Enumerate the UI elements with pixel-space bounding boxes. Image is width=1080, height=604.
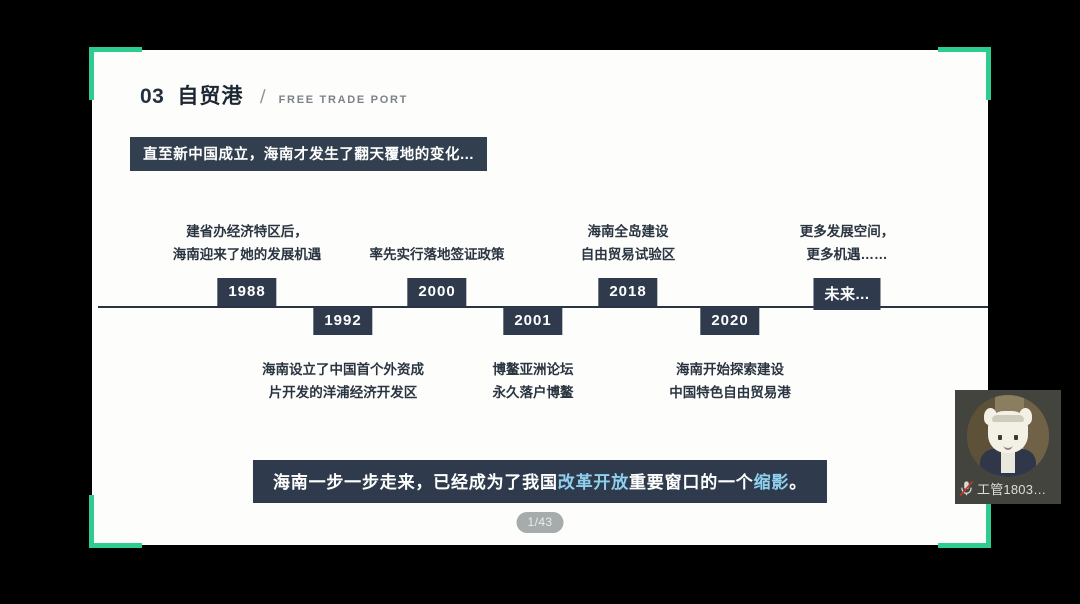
timeline-caption-line: 片开发的洋浦经济开发区 (262, 381, 424, 404)
timeline-year-chip: 未来... (813, 278, 880, 310)
timeline-caption-line: 海南全岛建设 (581, 220, 676, 243)
avatar-hair (992, 415, 1024, 422)
section-number: 03 (140, 85, 164, 109)
timeline-year-chip: 2018 (598, 278, 657, 306)
timeline-caption-line: 永久落户博鳌 (493, 381, 574, 404)
timeline-caption: 海南全岛建设自由贸易试验区 (581, 220, 676, 266)
timeline-year-chip: 1992 (313, 307, 372, 335)
slide-header: 03 自贸港 / FREE TRADE PORT (140, 80, 408, 110)
section-title-chinese: 自贸港 (177, 80, 243, 110)
timeline-caption: 博鳌亚洲论坛永久落户博鳌 (493, 358, 574, 404)
timeline-caption: 建省办经济特区后，海南迎来了她的发展机遇 (173, 220, 322, 266)
timeline-caption: 海南开始探索建设中国特色自由贸易港 (669, 358, 791, 404)
conclusion-highlight-1: 改革开放 (558, 473, 629, 492)
participant-name: 工管1803… (977, 479, 1046, 498)
mic-muted-icon[interactable] (959, 480, 974, 497)
timeline: 1988建省办经济特区后，海南迎来了她的发展机遇1992海南设立了中国首个外资成… (92, 200, 988, 490)
timeline-caption: 海南设立了中国首个外资成片开发的洋浦经济开发区 (262, 358, 424, 404)
avatar (967, 395, 1049, 477)
timeline-year-chip: 2000 (407, 278, 466, 306)
conclusion-part-3: 。 (789, 473, 807, 492)
timeline-caption-line: 自由贸易试验区 (581, 243, 676, 266)
timeline-caption-line: 博鳌亚洲论坛 (493, 358, 574, 381)
timeline-caption-line: 海南迎来了她的发展机遇 (173, 243, 322, 266)
corner-bracket-top-left-icon (89, 47, 142, 100)
avatar-eye-left (998, 435, 1002, 440)
timeline-year-chip: 2001 (503, 307, 562, 335)
corner-bracket-top-right-icon (938, 47, 991, 100)
presentation-slide: 03 自贸港 / FREE TRADE PORT 直至新中国成立，海南才发生了翻… (92, 50, 988, 545)
timeline-caption-line: 海南设立了中国首个外资成 (262, 358, 424, 381)
corner-bracket-bottom-left-icon (89, 495, 142, 548)
conclusion-banner: 海南一步一步走来，已经成为了我国改革开放重要窗口的一个缩影。 (253, 460, 827, 503)
timeline-caption: 更多发展空间，更多机遇…… (800, 220, 895, 266)
conclusion-highlight-2: 缩影 (754, 473, 790, 492)
timeline-caption-line: 建省办经济特区后， (173, 220, 322, 243)
timeline-caption-line: 更多机遇…… (800, 243, 895, 266)
timeline-caption-line: 中国特色自由贸易港 (669, 381, 791, 404)
timeline-caption-line: 海南开始探索建设 (669, 358, 791, 381)
section-title-english: FREE TRADE PORT (279, 94, 408, 106)
participant-tile-footer: 工管1803… (955, 479, 1061, 498)
timeline-year-chip: 2020 (700, 307, 759, 335)
timeline-caption-line: 更多发展空间， (800, 220, 895, 243)
timeline-year-chip: 1988 (217, 278, 276, 306)
screen-share-stage: 03 自贸港 / FREE TRADE PORT 直至新中国成立，海南才发生了翻… (0, 0, 1080, 604)
timeline-caption: 率先实行落地签证政策 (370, 243, 505, 266)
participant-video-tile[interactable]: 工管1803… (955, 390, 1061, 504)
conclusion-part-2: 重要窗口的一个 (629, 473, 754, 492)
title-separator-slash-icon: / (260, 87, 266, 109)
page-indicator: 1/43 (517, 512, 564, 533)
conclusion-part-1: 海南一步一步走来，已经成为了我国 (273, 473, 558, 492)
lead-banner: 直至新中国成立，海南才发生了翻天覆地的变化... (130, 137, 487, 171)
avatar-eye-right (1014, 435, 1018, 440)
timeline-caption-line: 率先实行落地签证政策 (370, 243, 505, 266)
